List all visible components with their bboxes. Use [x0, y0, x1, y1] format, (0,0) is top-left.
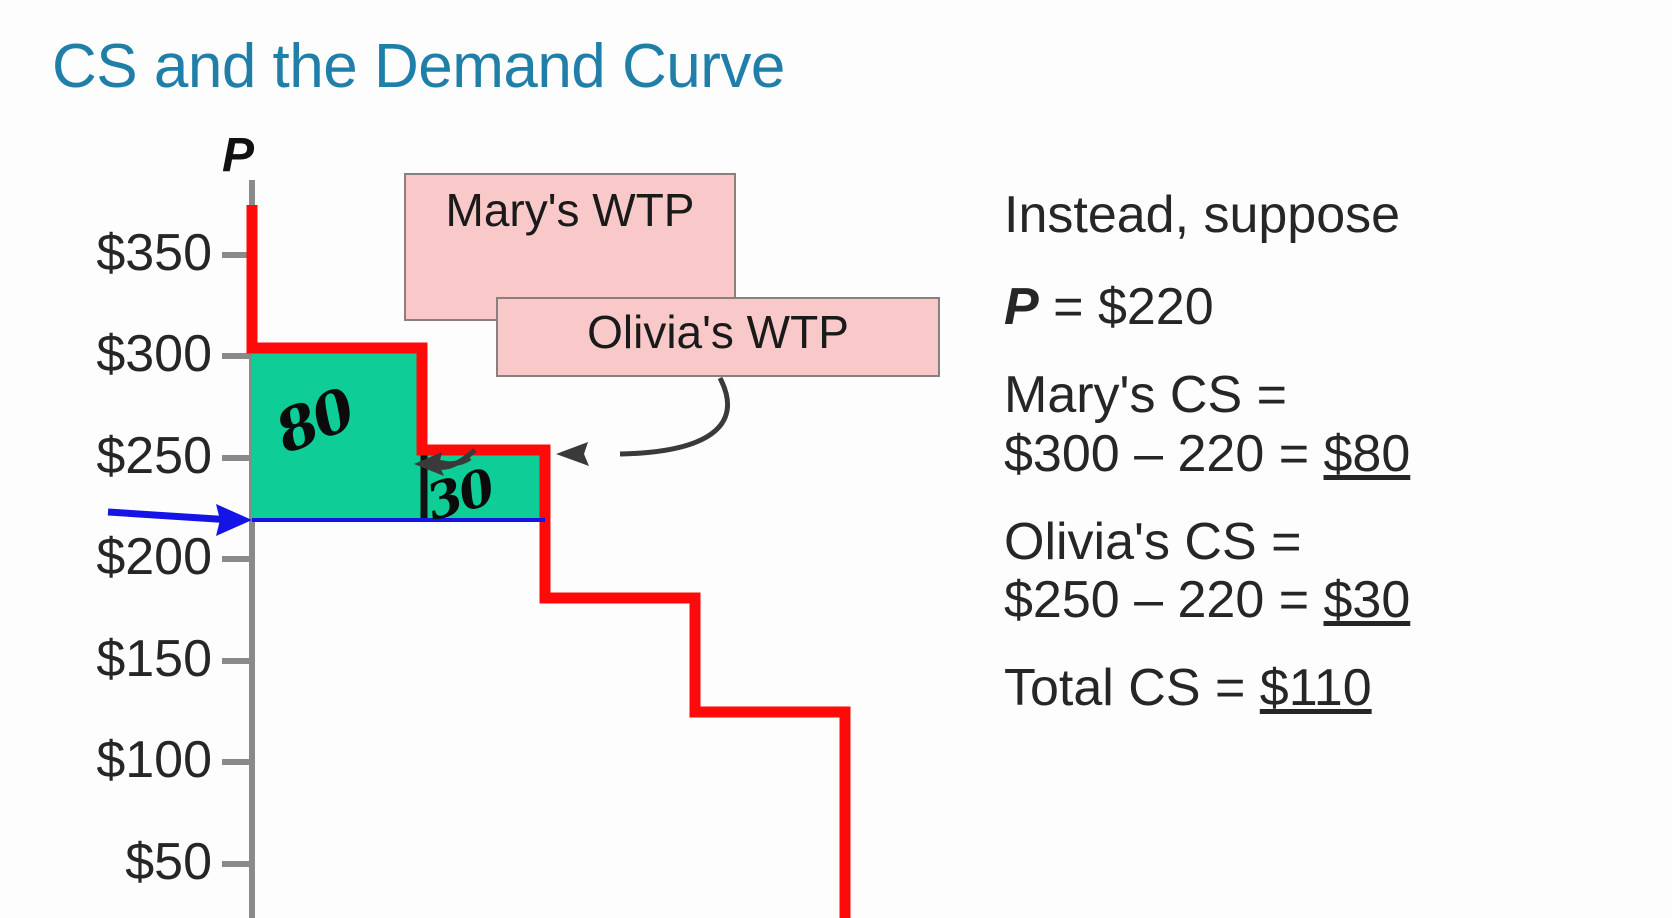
panel-olivia-calc: $250 – 220 = $30 — [1004, 571, 1672, 629]
panel-olivia-heading: Olivia's CS = — [1004, 513, 1672, 571]
total-cs-label: Total CS = — [1004, 659, 1260, 717]
total-cs-result: $110 — [1260, 659, 1372, 717]
panel-line-price: P = $220 — [1004, 278, 1672, 336]
olivia-calc-expression: $250 – 220 = — [1004, 571, 1324, 629]
price-value: = $220 — [1039, 278, 1214, 336]
price-arrow — [108, 504, 252, 536]
panel-total-cs: Total CS = $110 — [1004, 659, 1672, 717]
panel-line-instead: Instead, suppose — [1004, 186, 1672, 244]
page-title: CS and the Demand Curve — [52, 36, 785, 98]
mary-cs-result: $80 — [1324, 425, 1411, 483]
callout-arrow-olivia — [556, 378, 728, 466]
panel-mary-calc: $300 – 220 = $80 — [1004, 425, 1672, 483]
olivia-cs-result: $30 — [1324, 571, 1411, 629]
price-variable: P — [1004, 278, 1039, 336]
explanation-panel: Instead, suppose P = $220 Mary's CS = $3… — [1004, 186, 1672, 748]
panel-mary-heading: Mary's CS = — [1004, 366, 1672, 424]
mary-calc-expression: $300 – 220 = — [1004, 425, 1324, 483]
slide-canvas: CS and the Demand Curve $350 $300 $250 $… — [0, 0, 1672, 918]
callout-olivias-wtp[interactable]: Olivia's WTP — [496, 297, 940, 377]
